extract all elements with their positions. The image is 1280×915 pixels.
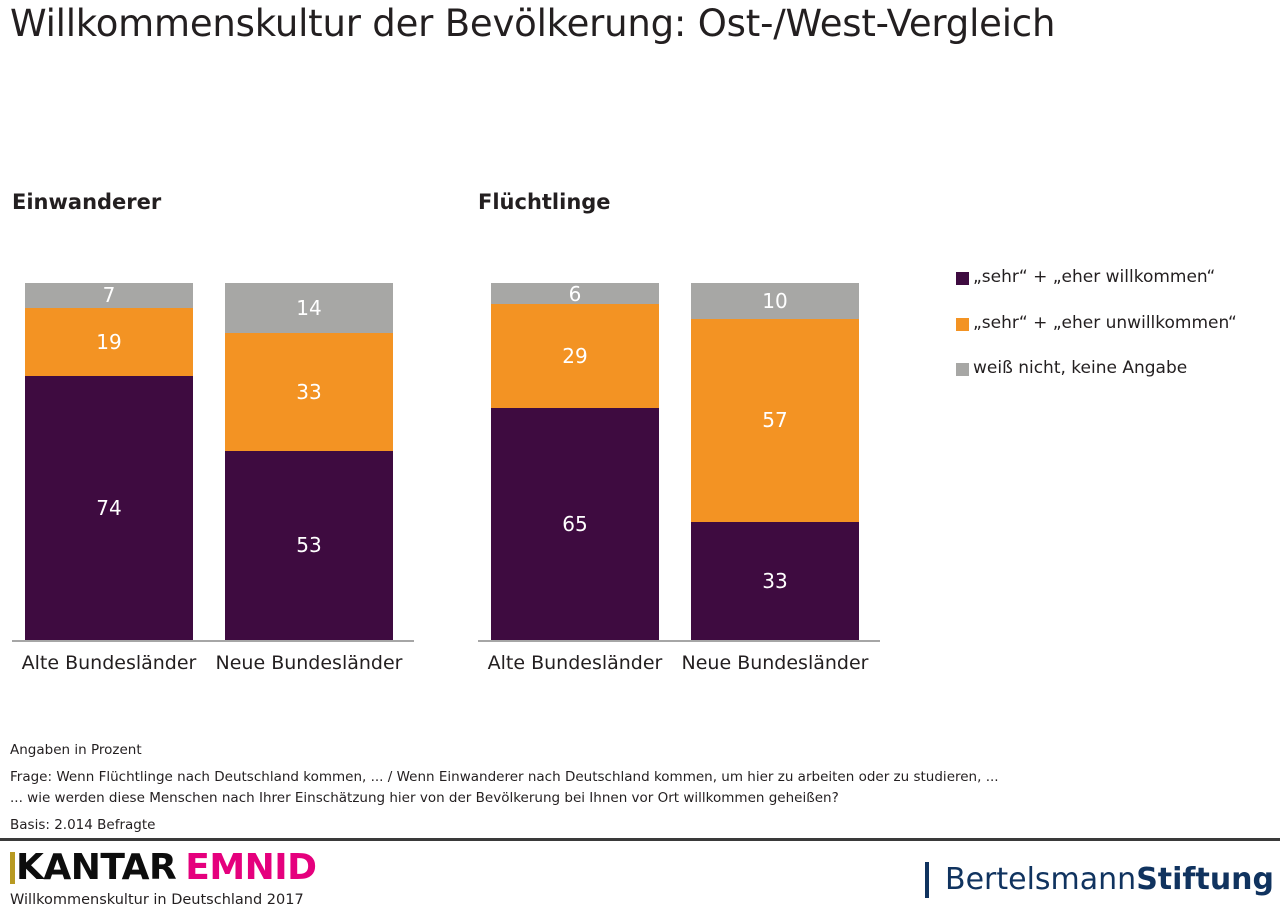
bar-segment-value: 7 xyxy=(103,285,116,305)
bar-segment-value: 10 xyxy=(762,291,787,311)
bertelsmann-stiftung-logo: BertelsmannStiftung xyxy=(925,862,1274,898)
bar-segment-weiss-nicht: 10 xyxy=(691,283,859,319)
stacked-bar: 7 19 74 xyxy=(25,283,193,640)
plot-area: 7 19 74 14 33 53 Alte Bundesländer Neue … xyxy=(12,283,414,642)
bar-segment-unwillkommen: 57 xyxy=(691,319,859,522)
kantar-text: KANTAR xyxy=(16,850,176,886)
bar-segment-willkommen: 74 xyxy=(25,376,193,640)
legend-item-unwillkommen: „sehr“ + „eher unwillkommen“ xyxy=(956,314,1280,333)
bar-segment-value: 14 xyxy=(296,298,321,318)
bar-segment-value: 33 xyxy=(762,571,787,591)
bar-segment-value: 53 xyxy=(296,535,321,555)
legend-swatch-icon xyxy=(956,318,969,331)
legend-item-willkommen: „sehr“ + „eher willkommen“ xyxy=(956,268,1280,287)
bertelsmann-text-bold: Stiftung xyxy=(1136,862,1274,897)
category-label: Neue Bundesländer xyxy=(678,652,872,674)
category-label: Neue Bundesländer xyxy=(212,652,406,674)
bar-segment-weiss-nicht: 7 xyxy=(25,283,193,308)
x-axis-line xyxy=(478,640,880,642)
emnid-text: EMNID xyxy=(185,850,316,886)
plot-area: 6 29 65 10 57 33 Alte Bundesländer Neue … xyxy=(478,283,880,642)
stacked-bar: 10 57 33 xyxy=(691,283,859,640)
footer-divider xyxy=(0,838,1280,841)
stacked-bar: 6 29 65 xyxy=(491,283,659,640)
category-label: Alte Bundesländer xyxy=(478,652,672,674)
footnote-units: Angaben in Prozent xyxy=(10,740,1210,761)
kantar-emnid-logo: KANTAR EMNID Willkommenskultur in Deutsc… xyxy=(10,850,317,908)
legend-swatch-icon xyxy=(956,363,969,376)
legend-label: weiß nicht, keine Angabe xyxy=(973,359,1187,378)
kantar-subtitle: Willkommenskultur in Deutschland 2017 xyxy=(10,892,317,908)
bar-segment-willkommen: 33 xyxy=(691,522,859,640)
stacked-bar: 14 33 53 xyxy=(225,283,393,640)
footnote-basis: Basis: 2.014 Befragte xyxy=(10,815,1210,836)
bar-segment-willkommen: 53 xyxy=(225,451,393,640)
bar-segment-willkommen: 65 xyxy=(491,408,659,640)
legend-label: „sehr“ + „eher willkommen“ xyxy=(973,268,1215,287)
bar-segment-value: 29 xyxy=(562,346,587,366)
bar-segment-value: 33 xyxy=(296,382,321,402)
footnotes: Angaben in Prozent Frage: Wenn Flüchtlin… xyxy=(10,740,1210,836)
bar-segment-unwillkommen: 33 xyxy=(225,333,393,451)
legend-swatch-icon xyxy=(956,272,969,285)
bar-segment-value: 19 xyxy=(96,332,121,352)
panel-title: Einwanderer xyxy=(12,190,161,214)
bar-segment-value: 65 xyxy=(562,514,587,534)
bertelsmann-text-light: Bertelsmann xyxy=(945,862,1136,897)
kantar-accent-bar-icon xyxy=(10,852,15,884)
panel-title: Flüchtlinge xyxy=(478,190,611,214)
legend-item-weiss-nicht: weiß nicht, keine Angabe xyxy=(956,359,1280,378)
page-title: Willkommenskultur der Bevölkerung: Ost-/… xyxy=(10,2,1055,45)
bar-segment-value: 6 xyxy=(569,284,582,304)
footnote-question-line-1: Frage: Wenn Flüchtlinge nach Deutschland… xyxy=(10,767,1210,788)
footnote-question-line-2: ... wie werden diese Menschen nach Ihrer… xyxy=(10,788,1210,809)
x-axis-line xyxy=(12,640,414,642)
legend-label: „sehr“ + „eher unwillkommen“ xyxy=(973,314,1237,333)
bar-segment-weiss-nicht: 6 xyxy=(491,283,659,304)
bar-segment-value: 57 xyxy=(762,410,787,430)
bertelsmann-bar-icon xyxy=(925,862,929,898)
category-label: Alte Bundesländer xyxy=(12,652,206,674)
bar-segment-unwillkommen: 19 xyxy=(25,308,193,376)
bar-segment-unwillkommen: 29 xyxy=(491,304,659,408)
chart-legend: „sehr“ + „eher willkommen“ „sehr“ + „ehe… xyxy=(956,268,1280,405)
kantar-wordmark: KANTAR EMNID xyxy=(10,850,317,886)
bar-segment-value: 74 xyxy=(96,498,121,518)
bertelsmann-wordmark: BertelsmannStiftung xyxy=(945,865,1274,895)
bar-segment-weiss-nicht: 14 xyxy=(225,283,393,333)
